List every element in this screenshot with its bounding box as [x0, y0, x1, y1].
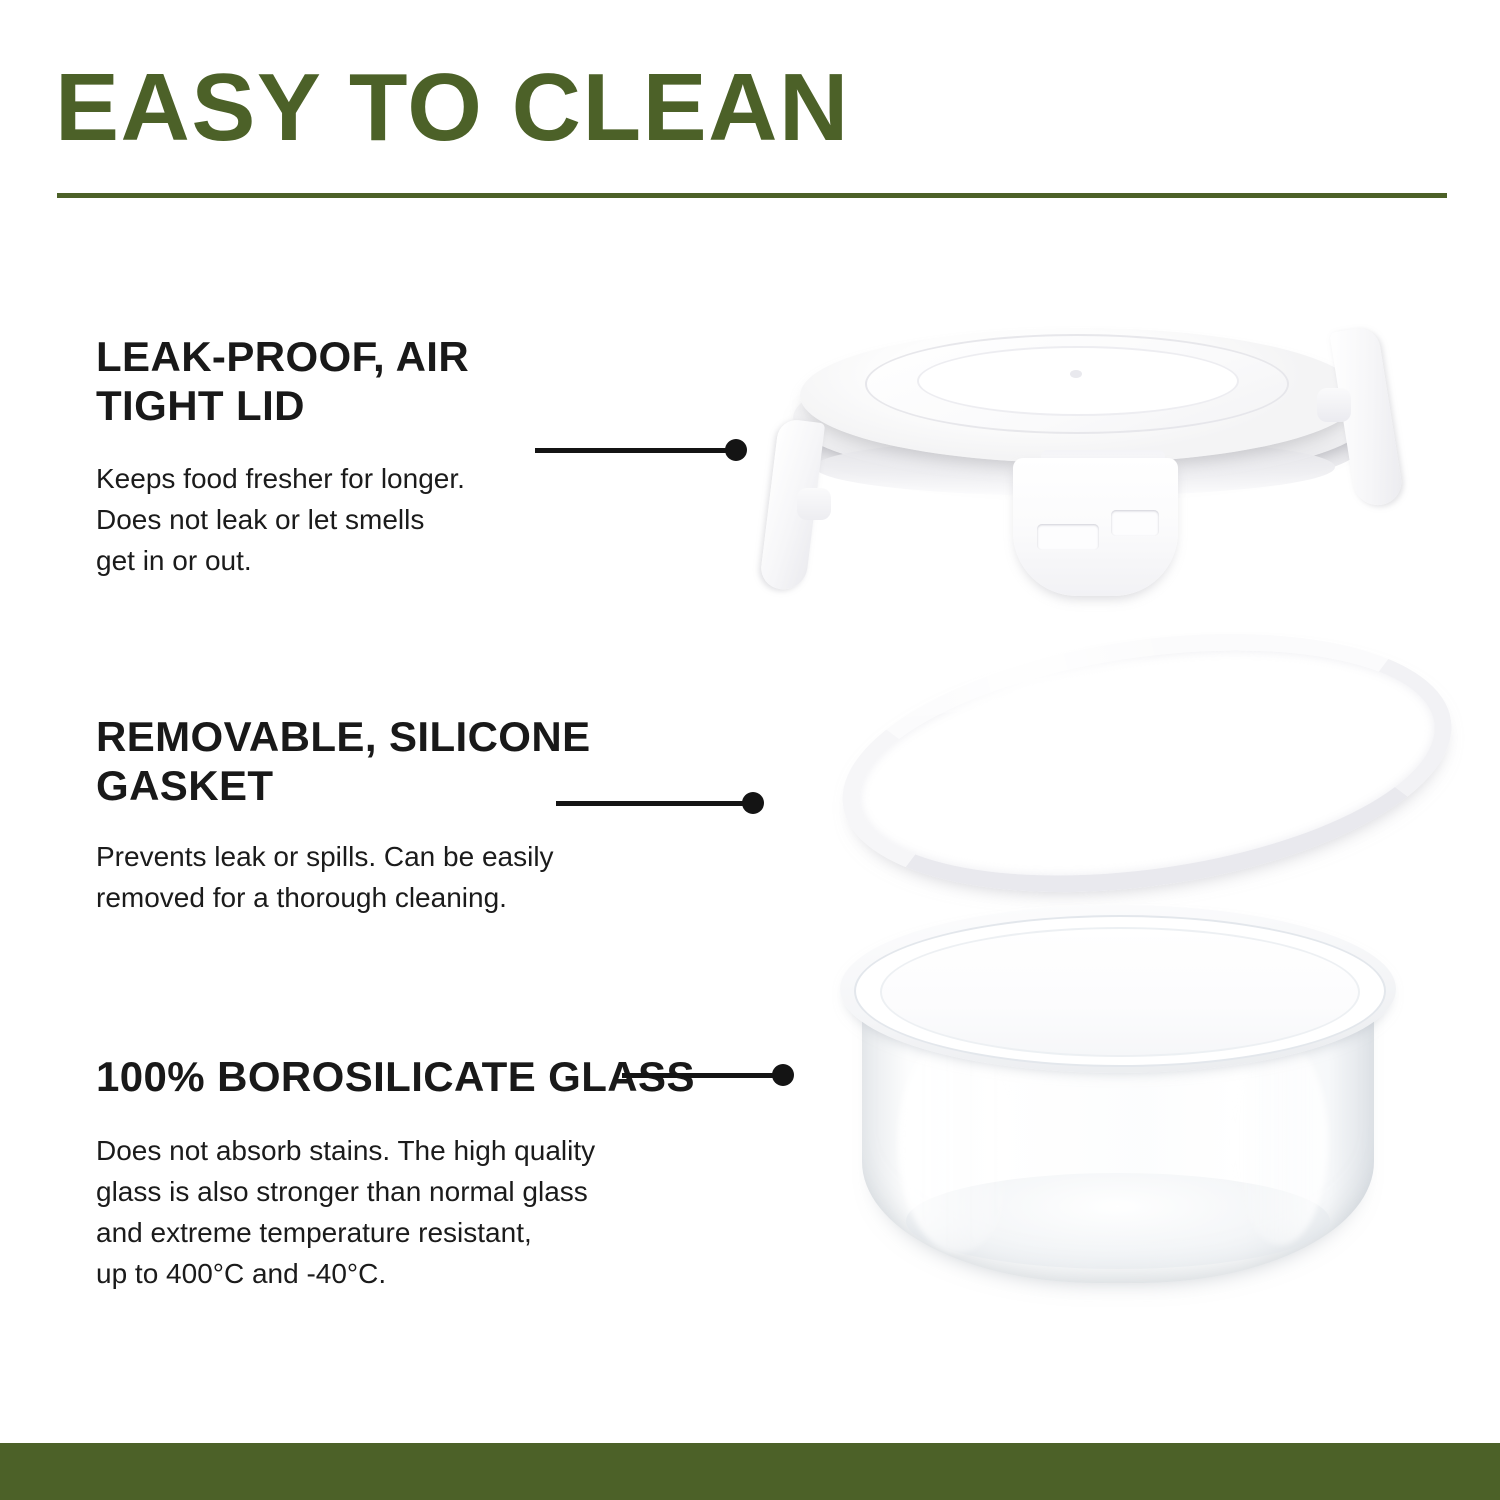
feature-description: Keeps food fresher for longer. Does not … — [96, 459, 566, 582]
page-title: EASY TO CLEAN — [55, 60, 850, 156]
leader-line-stroke — [622, 1073, 778, 1078]
leader-line-icon-lid — [535, 439, 747, 461]
leader-line-dot-icon — [742, 792, 764, 814]
lid-center-vent — [1070, 370, 1082, 378]
feature-description: Prevents leak or spills. Can be easily r… — [96, 837, 656, 919]
product-image-glass-bowl — [840, 905, 1410, 1325]
footer-accent-band — [0, 1443, 1500, 1500]
title-divider — [57, 193, 1447, 198]
leader-line-dot-icon — [725, 439, 747, 461]
feature-block-leak-proof-air-tight-lid: LEAK-PROOF, AIR TIGHT LID Keeps food fre… — [96, 332, 566, 582]
leader-line-icon-gasket — [556, 792, 764, 814]
feature-block-removable-silicone-gasket: REMOVABLE, SILICONE GASKET Prevents leak… — [96, 712, 656, 919]
leader-line-icon-glass — [622, 1064, 794, 1086]
feature-heading: 100% BOROSILICATE GLASS — [96, 1052, 696, 1101]
lid-latch-slot — [1111, 510, 1159, 536]
leader-line-dot-icon — [772, 1064, 794, 1086]
bowl-rim-inner — [880, 927, 1360, 1057]
lid-left-clip-nub — [797, 488, 831, 520]
lid-latch-slot — [1037, 524, 1099, 550]
bowl-right-gloss — [1232, 1039, 1328, 1245]
feature-block-borosilicate-glass: 100% BOROSILICATE GLASS Does not absorb … — [96, 1052, 696, 1295]
lid-inner-ring — [917, 346, 1239, 416]
product-image-airtight-lid — [745, 310, 1435, 610]
product-image-silicone-gasket — [840, 640, 1430, 870]
leader-line-stroke — [556, 801, 748, 806]
leader-line-stroke — [535, 448, 731, 453]
feature-heading: LEAK-PROOF, AIR TIGHT LID — [96, 332, 566, 430]
feature-description: Does not absorb stains. The high quality… — [96, 1131, 696, 1295]
lid-right-clip-nub — [1317, 388, 1351, 422]
infographic-page: EASY TO CLEAN LEAK-PROOF, AIR TIGHT LID … — [0, 0, 1500, 1500]
